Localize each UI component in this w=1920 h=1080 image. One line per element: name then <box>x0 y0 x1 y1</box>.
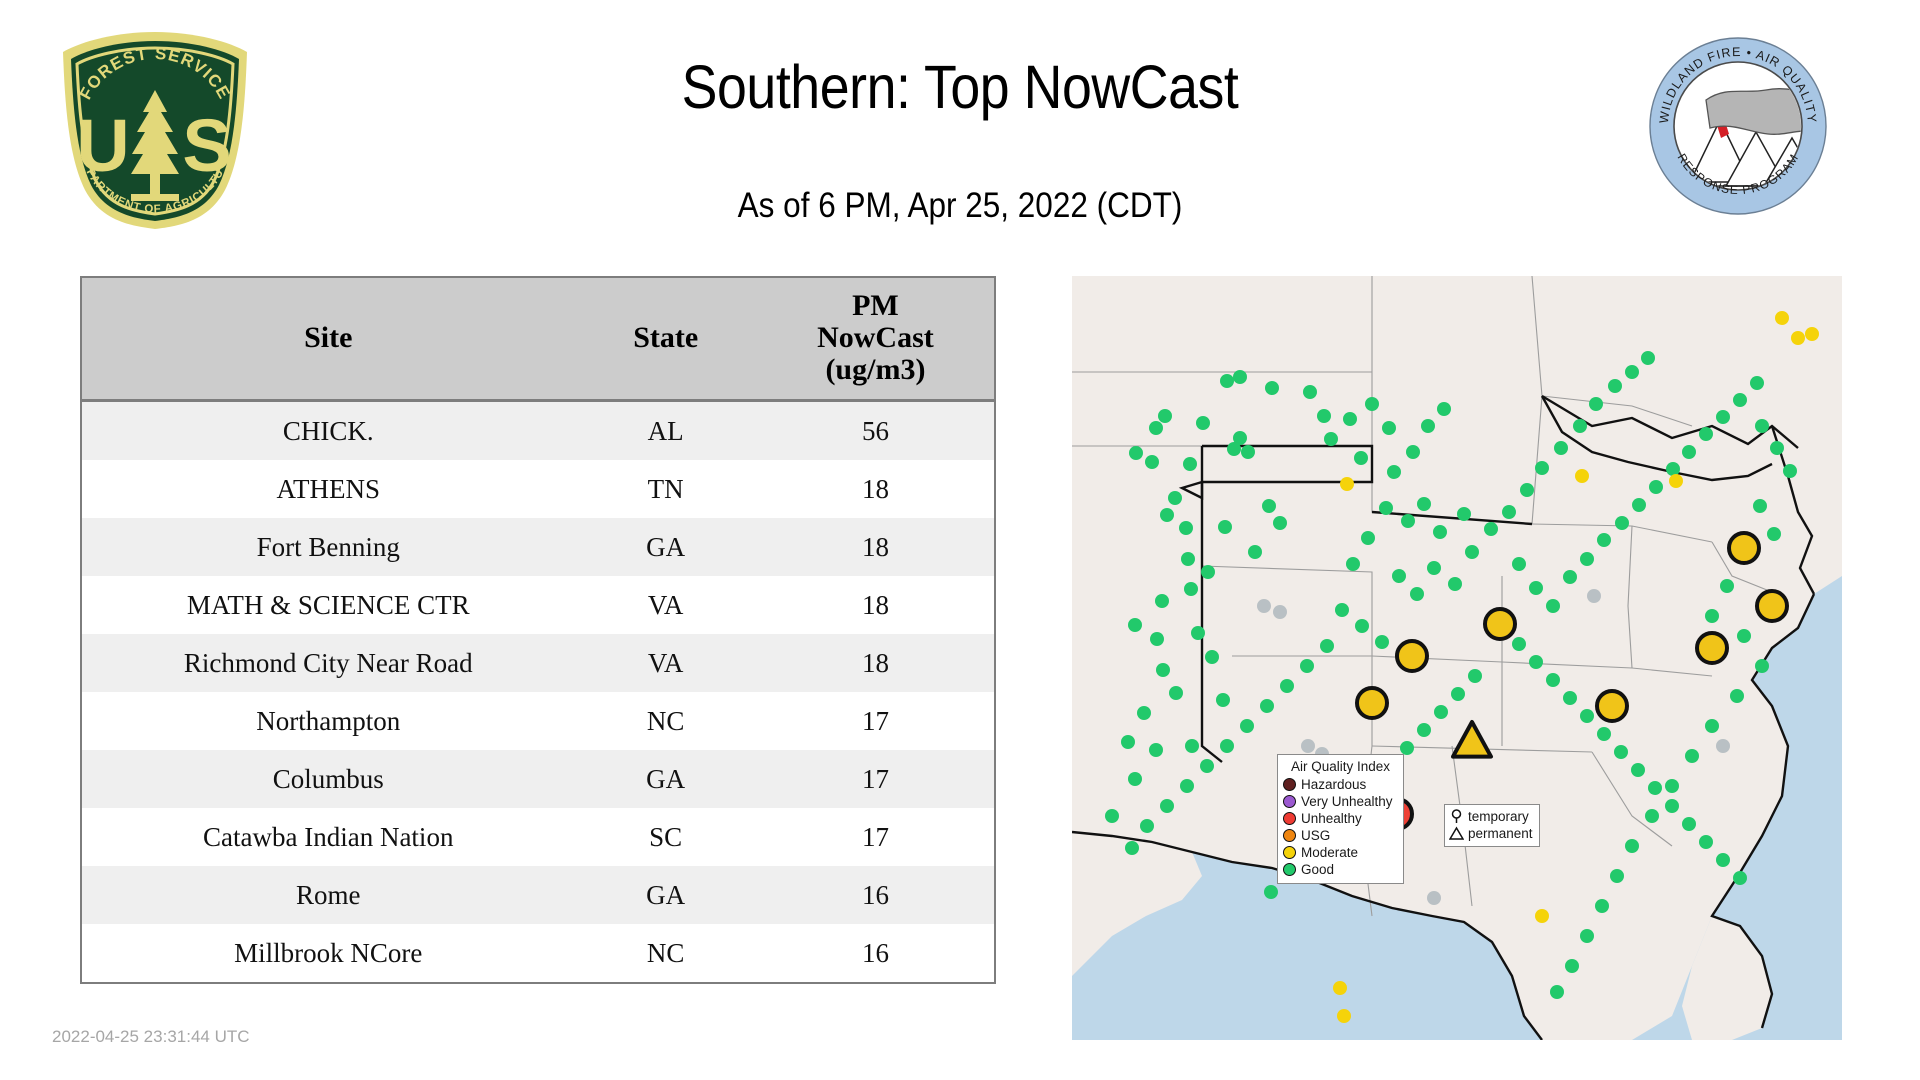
monitor-dot-good <box>1451 687 1465 701</box>
nowcast-table-container: Site State PM NowCast (ug/m3) CHICK.AL56… <box>80 276 996 984</box>
pm-cell: 18 <box>757 576 994 634</box>
monitor-dot-good <box>1665 779 1679 793</box>
monitor-dot-good <box>1401 514 1415 528</box>
monitor-dot-good <box>1361 531 1375 545</box>
monitor-dot-good <box>1183 457 1197 471</box>
monitor-dot-good <box>1699 427 1713 441</box>
monitor-dot-good <box>1343 412 1357 426</box>
monitor-dot-good <box>1168 491 1182 505</box>
monitor-dot-good <box>1262 499 1276 513</box>
monitor-dot-good <box>1580 552 1594 566</box>
page-title: Southern: Top NowCast <box>115 52 1805 122</box>
monitor-dot-moderate <box>1791 331 1805 345</box>
monitor-dot-good <box>1375 635 1389 649</box>
table-row: RomeGA16 <box>82 866 994 924</box>
legend-label: Very Unhealthy <box>1301 794 1393 809</box>
monitor-dot-good <box>1608 379 1622 393</box>
monitor-dot-good <box>1770 441 1784 455</box>
legend-swatch-icon <box>1283 778 1296 791</box>
permanent-site-icon <box>1449 826 1464 841</box>
monitor-dot-good <box>1750 376 1764 390</box>
monitor-dot-good <box>1512 557 1526 571</box>
table-row: Millbrook NCoreNC16 <box>82 924 994 982</box>
pm-header-line-1: PM <box>761 290 990 322</box>
temporary-site-icon <box>1449 809 1464 824</box>
monitor-dot-good <box>1753 499 1767 513</box>
monitor-dot-good <box>1565 959 1579 973</box>
monitor-dot-good <box>1631 763 1645 777</box>
monitor-dot-good <box>1484 522 1498 536</box>
legend-swatch-icon <box>1283 863 1296 876</box>
legend-row: Unhealthy <box>1283 810 1398 827</box>
monitor-dot-moderate <box>1337 1009 1351 1023</box>
pm-cell: 18 <box>757 518 994 576</box>
monitor-dot-good <box>1665 799 1679 813</box>
monitor-dot-inactive <box>1427 891 1441 905</box>
monitor-dot-good <box>1220 374 1234 388</box>
site-cell: Columbus <box>82 750 574 808</box>
top-site-marker-circle <box>1397 641 1427 671</box>
monitor-dot-good <box>1434 705 1448 719</box>
monitor-dot-good <box>1365 397 1379 411</box>
monitor-dot-good <box>1196 416 1210 430</box>
monitor-dot-good <box>1546 673 1560 687</box>
monitor-dot-good <box>1417 723 1431 737</box>
monitor-dot-good <box>1227 442 1241 456</box>
monitor-dot-good <box>1216 693 1230 707</box>
monitor-dot-good <box>1666 462 1680 476</box>
monitor-dot-inactive <box>1257 599 1271 613</box>
top-site-marker-circle <box>1757 591 1787 621</box>
pm-header-line-3: (ug/m3) <box>761 354 990 386</box>
monitor-dot-moderate <box>1575 469 1589 483</box>
legend-swatch-icon <box>1283 812 1296 825</box>
monitor-dot-good <box>1354 451 1368 465</box>
monitor-dot-good <box>1632 498 1646 512</box>
pm-header-line-2: NowCast <box>761 322 990 354</box>
monitor-dot-good <box>1682 445 1696 459</box>
monitor-dot-good <box>1625 365 1639 379</box>
monitor-dot-inactive <box>1301 739 1315 753</box>
site-cell: Northampton <box>82 692 574 750</box>
pm-cell: 18 <box>757 634 994 692</box>
monitor-dot-moderate <box>1669 474 1683 488</box>
monitor-dot-good <box>1730 689 1744 703</box>
column-header-state: State <box>574 278 756 400</box>
monitor-dot-good <box>1733 871 1747 885</box>
table-row: Fort BenningGA18 <box>82 518 994 576</box>
monitor-dot-good <box>1448 577 1462 591</box>
monitor-dot-good <box>1140 819 1154 833</box>
monitor-dot-moderate <box>1340 477 1354 491</box>
monitor-dot-good <box>1589 397 1603 411</box>
table-row: ColumbusGA17 <box>82 750 994 808</box>
monitor-dot-good <box>1595 899 1609 913</box>
monitor-dot-good <box>1379 501 1393 515</box>
site-cell: Rome <box>82 866 574 924</box>
state-cell: VA <box>574 634 756 692</box>
monitor-dot-good <box>1563 570 1577 584</box>
legend-row: Moderate <box>1283 844 1398 861</box>
monitor-dot-moderate <box>1805 327 1819 341</box>
legend-row: Good <box>1283 861 1398 878</box>
monitor-dot-good <box>1317 409 1331 423</box>
generated-timestamp: 2022-04-25 23:31:44 UTC <box>52 1027 250 1047</box>
monitor-dot-good <box>1248 545 1262 559</box>
monitor-dot-good <box>1335 603 1349 617</box>
monitor-dot-good <box>1529 581 1543 595</box>
state-cell: NC <box>574 692 756 750</box>
monitor-dot-good <box>1433 525 1447 539</box>
top-site-marker-circle <box>1729 533 1759 563</box>
monitor-dot-good <box>1641 351 1655 365</box>
site-cell: CHICK. <box>82 400 574 460</box>
legend-row: Hazardous <box>1283 776 1398 793</box>
state-cell: SC <box>574 808 756 866</box>
pm-cell: 17 <box>757 808 994 866</box>
monitor-dot-good <box>1457 507 1471 521</box>
monitor-dot-good <box>1767 527 1781 541</box>
map-legend-site-type: temporary permanent <box>1444 804 1540 847</box>
top-site-marker-circle <box>1697 633 1727 663</box>
monitor-dot-good <box>1427 561 1441 575</box>
monitor-dot-good <box>1597 533 1611 547</box>
monitor-dot-good <box>1169 686 1183 700</box>
state-cell: GA <box>574 866 756 924</box>
site-cell: Richmond City Near Road <box>82 634 574 692</box>
monitor-dot-good <box>1580 709 1594 723</box>
monitor-dot-good <box>1160 508 1174 522</box>
pm-cell: 17 <box>757 750 994 808</box>
state-cell: VA <box>574 576 756 634</box>
monitor-dot-good <box>1705 719 1719 733</box>
pm-cell: 18 <box>757 460 994 518</box>
top-site-marker-circle <box>1485 609 1515 639</box>
table-header-row: Site State PM NowCast (ug/m3) <box>82 278 994 400</box>
legend-title: Air Quality Index <box>1283 759 1398 774</box>
monitor-dot-good <box>1121 735 1135 749</box>
table-body: CHICK.AL56ATHENSTN18Fort BenningGA18MATH… <box>82 400 994 982</box>
page-subtitle: As of 6 PM, Apr 25, 2022 (CDT) <box>96 186 1824 226</box>
table-row: CHICK.AL56 <box>82 400 994 460</box>
column-header-pm-nowcast: PM NowCast (ug/m3) <box>757 278 994 400</box>
monitor-dot-good <box>1720 579 1734 593</box>
legend-row: USG <box>1283 827 1398 844</box>
nowcast-report-page: FOREST SERVICE DEPARTMENT OF AGRICULTURE… <box>0 0 1920 1080</box>
monitor-dot-good <box>1260 699 1274 713</box>
monitor-dot-good <box>1160 799 1174 813</box>
monitor-dot-good <box>1200 759 1214 773</box>
monitor-dot-good <box>1535 461 1549 475</box>
monitor-dot-moderate <box>1535 909 1549 923</box>
monitor-dot-good <box>1324 432 1338 446</box>
monitor-dot-good <box>1179 521 1193 535</box>
monitor-dot-good <box>1149 421 1163 435</box>
monitor-dot-good <box>1649 480 1663 494</box>
monitor-dot-good <box>1733 393 1747 407</box>
monitor-dot-good <box>1465 545 1479 559</box>
legend-label-temporary: temporary <box>1468 809 1529 824</box>
monitor-dot-good <box>1529 655 1543 669</box>
state-cell: TN <box>574 460 756 518</box>
monitor-dot-good <box>1648 781 1662 795</box>
monitor-dot-good <box>1512 637 1526 651</box>
legend-label: Moderate <box>1301 845 1358 860</box>
legend-rows: HazardousVery UnhealthyUnhealthyUSGModer… <box>1283 776 1398 878</box>
monitor-dot-good <box>1783 464 1797 478</box>
monitor-dot-good <box>1421 419 1435 433</box>
monitor-dot-good <box>1280 679 1294 693</box>
monitor-dot-good <box>1218 520 1232 534</box>
table-row: Richmond City Near RoadVA18 <box>82 634 994 692</box>
monitor-dot-good <box>1128 618 1142 632</box>
monitor-dot-good <box>1320 639 1334 653</box>
monitor-dot-good <box>1355 619 1369 633</box>
legend-row-temporary: temporary <box>1449 808 1533 825</box>
monitor-dot-good <box>1546 599 1560 613</box>
monitor-dot-good <box>1705 609 1719 623</box>
pm-cell: 16 <box>757 866 994 924</box>
table-row: Catawba Indian NationSC17 <box>82 808 994 866</box>
monitor-dot-good <box>1682 817 1696 831</box>
monitor-dot-good <box>1125 841 1139 855</box>
monitor-dot-good <box>1129 446 1143 460</box>
table-header: Site State PM NowCast (ug/m3) <box>82 278 994 400</box>
monitor-dot-good <box>1181 552 1195 566</box>
monitor-dot-moderate <box>1333 981 1347 995</box>
monitor-dot-good <box>1520 483 1534 497</box>
legend-row: Very Unhealthy <box>1283 793 1398 810</box>
monitor-dot-good <box>1468 669 1482 683</box>
monitor-dot-good <box>1264 885 1278 899</box>
monitor-dot-good <box>1400 741 1414 755</box>
monitor-dot-good <box>1502 505 1516 519</box>
monitor-dot-good <box>1610 869 1624 883</box>
monitor-dot-good <box>1233 370 1247 384</box>
monitor-dot-good <box>1145 455 1159 469</box>
monitor-dot-good <box>1755 659 1769 673</box>
pm-cell: 56 <box>757 400 994 460</box>
site-cell: Millbrook NCore <box>82 924 574 982</box>
table-row: MATH & SCIENCE CTRVA18 <box>82 576 994 634</box>
monitor-dot-good <box>1303 385 1317 399</box>
legend-label: Hazardous <box>1301 777 1366 792</box>
monitor-dot-good <box>1128 772 1142 786</box>
monitor-dot-good <box>1737 629 1751 643</box>
legend-swatch-icon <box>1283 829 1296 842</box>
site-cell: ATHENS <box>82 460 574 518</box>
legend-swatch-icon <box>1283 846 1296 859</box>
monitor-dot-good <box>1300 659 1314 673</box>
monitor-dot-good <box>1240 719 1254 733</box>
monitor-dot-good <box>1625 839 1639 853</box>
site-cell: MATH & SCIENCE CTR <box>82 576 574 634</box>
monitor-dot-good <box>1755 419 1769 433</box>
monitor-dot-good <box>1220 739 1234 753</box>
monitor-dot-good <box>1550 985 1564 999</box>
legend-label-permanent: permanent <box>1468 826 1533 841</box>
monitor-dot-good <box>1699 835 1713 849</box>
monitor-dot-good <box>1265 381 1279 395</box>
monitor-dot-good <box>1554 441 1568 455</box>
monitor-dot-good <box>1241 445 1255 459</box>
pm-cell: 17 <box>757 692 994 750</box>
monitor-dot-good <box>1158 409 1172 423</box>
state-cell: AL <box>574 400 756 460</box>
monitor-dot-good <box>1137 706 1151 720</box>
monitor-dot-good <box>1346 557 1360 571</box>
monitor-dot-good <box>1150 632 1164 646</box>
monitor-dot-inactive <box>1716 739 1730 753</box>
top-site-marker-circle <box>1357 688 1387 718</box>
monitor-dot-good <box>1716 410 1730 424</box>
monitor-dot-good <box>1180 779 1194 793</box>
monitor-dot-good <box>1273 516 1287 530</box>
monitor-dot-good <box>1716 853 1730 867</box>
monitor-dot-good <box>1392 569 1406 583</box>
legend-label: USG <box>1301 828 1330 843</box>
state-cell: GA <box>574 750 756 808</box>
map-legend-air-quality-index: Air Quality Index HazardousVery Unhealth… <box>1277 754 1404 884</box>
state-cell: NC <box>574 924 756 982</box>
monitor-dot-inactive <box>1273 605 1287 619</box>
legend-swatch-icon <box>1283 795 1296 808</box>
monitor-dot-good <box>1387 465 1401 479</box>
state-cell: GA <box>574 518 756 576</box>
site-cell: Fort Benning <box>82 518 574 576</box>
monitor-dot-good <box>1563 691 1577 705</box>
top-site-marker-circle <box>1597 691 1627 721</box>
monitor-dot-good <box>1437 402 1451 416</box>
monitor-dot-good <box>1580 929 1594 943</box>
monitor-dot-good <box>1382 421 1396 435</box>
table-row: NorthamptonNC17 <box>82 692 994 750</box>
monitor-dot-good <box>1685 749 1699 763</box>
monitor-dot-good <box>1417 497 1431 511</box>
legend-row-permanent: permanent <box>1449 825 1533 842</box>
monitor-dot-good <box>1191 626 1205 640</box>
monitor-dot-inactive <box>1587 589 1601 603</box>
table-row: ATHENSTN18 <box>82 460 994 518</box>
legend-label: Good <box>1301 862 1334 877</box>
monitor-dot-good <box>1615 516 1629 530</box>
pm-cell: 16 <box>757 924 994 982</box>
monitor-dot-good <box>1573 419 1587 433</box>
monitor-dot-good <box>1149 743 1163 757</box>
monitor-dot-good <box>1410 587 1424 601</box>
legend-label: Unhealthy <box>1301 811 1362 826</box>
monitor-dot-good <box>1645 809 1659 823</box>
monitor-dot-good <box>1155 594 1169 608</box>
monitor-dot-good <box>1185 739 1199 753</box>
nowcast-table: Site State PM NowCast (ug/m3) CHICK.AL56… <box>82 278 994 982</box>
monitor-dot-good <box>1184 582 1198 596</box>
monitor-dot-good <box>1156 663 1170 677</box>
monitor-dot-good <box>1201 565 1215 579</box>
aqi-monitor-map[interactable] <box>1072 276 1842 1040</box>
monitor-dot-good <box>1105 809 1119 823</box>
site-cell: Catawba Indian Nation <box>82 808 574 866</box>
monitor-dot-moderate <box>1775 311 1789 325</box>
monitor-dot-good <box>1406 445 1420 459</box>
monitor-dot-good <box>1597 727 1611 741</box>
monitor-dot-good <box>1614 745 1628 759</box>
column-header-site: Site <box>82 278 574 400</box>
monitor-dot-good <box>1205 650 1219 664</box>
